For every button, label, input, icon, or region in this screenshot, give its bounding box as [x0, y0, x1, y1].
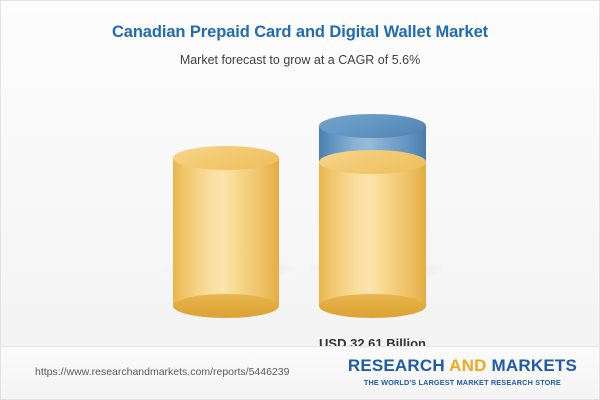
cylinder-body-base — [319, 162, 426, 306]
cylinder-top-cap-base — [173, 146, 279, 170]
logo-tagline: THE WORLD'S LARGEST MARKET RESEARCH STOR… — [348, 375, 577, 387]
logo-word-markets: MARKETS — [492, 356, 577, 375]
page-title: Canadian Prepaid Card and Digital Wallet… — [1, 23, 599, 41]
cylinder-2030 — [319, 114, 426, 306]
cylinder-body-base — [173, 158, 279, 306]
cylinder-2026 — [173, 146, 279, 306]
logo-word-and: AND — [449, 356, 486, 375]
chart-subtitle: Market forecast to grow at a CAGR of 5.6… — [1, 41, 599, 67]
research-and-markets-logo: RESEARCH AND MARKETS THE WORLD'S LARGEST… — [348, 357, 577, 387]
report-url[interactable]: https://www.researchandmarkets.com/repor… — [35, 366, 289, 378]
cylinder-top-cap-growth — [319, 114, 426, 138]
footer-bar: https://www.researchandmarkets.com/repor… — [1, 346, 599, 399]
cylinder-bottom-cap — [173, 294, 279, 318]
logo-word-research: RESEARCH — [348, 356, 445, 375]
infographic-card: Canadian Prepaid Card and Digital Wallet… — [0, 0, 600, 400]
chart-plot-area: USD 26.26 Billion 2026 USD 32.61 Billion… — [1, 91, 599, 341]
cylinder-divider-cap — [319, 150, 426, 174]
cylinder-bottom-cap — [319, 294, 426, 318]
logo-wordmark: RESEARCH AND MARKETS — [348, 357, 577, 375]
chart-header: Canadian Prepaid Card and Digital Wallet… — [1, 1, 599, 67]
